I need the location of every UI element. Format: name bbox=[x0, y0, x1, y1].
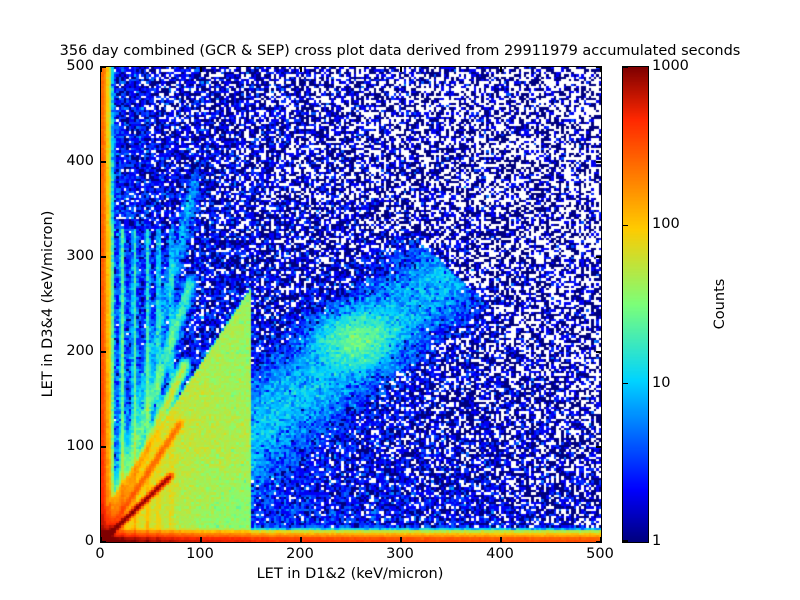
y-tick-right-400 bbox=[596, 161, 601, 162]
y-tick-left-500 bbox=[101, 66, 106, 67]
y-tick-label-200: 200 bbox=[66, 343, 94, 359]
colorbar-gradient bbox=[623, 67, 648, 542]
y-tick-right-300 bbox=[596, 256, 601, 257]
y-tick-label-0: 0 bbox=[85, 533, 94, 549]
x-tick-top-100 bbox=[200, 67, 201, 72]
y-tick-label-300: 300 bbox=[66, 248, 94, 264]
x-tick-top-300 bbox=[400, 67, 401, 72]
colorbar-tick-100 bbox=[623, 225, 628, 226]
x-tick-bottom-400 bbox=[500, 537, 501, 542]
y-tick-left-0 bbox=[101, 541, 106, 542]
colorbar-tick-label-1: 1 bbox=[652, 533, 661, 549]
y-tick-left-100 bbox=[101, 446, 106, 447]
x-tick-label-100: 100 bbox=[186, 546, 214, 562]
x-tick-top-400 bbox=[500, 67, 501, 72]
y-tick-left-200 bbox=[101, 351, 106, 352]
x-tick-label-0: 0 bbox=[95, 546, 104, 562]
colorbar-tick-label-1000: 1000 bbox=[652, 58, 689, 74]
figure-root: 356 day combined (GCR & SEP) cross plot … bbox=[0, 0, 800, 600]
y-tick-right-500 bbox=[596, 66, 601, 67]
y-tick-label-500: 500 bbox=[66, 58, 94, 74]
x-tick-bottom-300 bbox=[400, 537, 401, 542]
x-tick-label-300: 300 bbox=[386, 546, 414, 562]
colorbar-tick-label-100: 100 bbox=[652, 216, 680, 232]
y-tick-label-100: 100 bbox=[66, 438, 94, 454]
scatter-density-canvas[interactable] bbox=[101, 67, 601, 542]
x-tick-top-200 bbox=[300, 67, 301, 72]
y-tick-right-200 bbox=[596, 351, 601, 352]
x-tick-label-500: 500 bbox=[586, 546, 614, 562]
y-tick-right-0 bbox=[596, 541, 601, 542]
colorbar-label: Counts bbox=[712, 279, 728, 330]
colorbar-tick-label-10: 10 bbox=[652, 375, 670, 391]
x-tick-bottom-100 bbox=[200, 537, 201, 542]
y-tick-right-100 bbox=[596, 446, 601, 447]
x-tick-top-0 bbox=[100, 67, 101, 72]
colorbar-tick-1 bbox=[623, 540, 628, 541]
y-tick-left-300 bbox=[101, 256, 106, 257]
x-tick-label-400: 400 bbox=[486, 546, 514, 562]
y-tick-label-400: 400 bbox=[66, 153, 94, 169]
x-tick-bottom-200 bbox=[300, 537, 301, 542]
y-tick-left-400 bbox=[101, 161, 106, 162]
x-axis-label: LET in D1&2 (keV/micron) bbox=[100, 566, 600, 582]
x-tick-label-200: 200 bbox=[286, 546, 314, 562]
colorbar[interactable] bbox=[622, 66, 649, 543]
colorbar-tick-1000 bbox=[623, 66, 628, 67]
y-axis-label: LET in D3&4 (keV/micron) bbox=[40, 211, 56, 398]
x-tick-top-500 bbox=[600, 67, 601, 72]
plot-area[interactable] bbox=[100, 66, 602, 543]
colorbar-tick-10 bbox=[623, 383, 628, 384]
